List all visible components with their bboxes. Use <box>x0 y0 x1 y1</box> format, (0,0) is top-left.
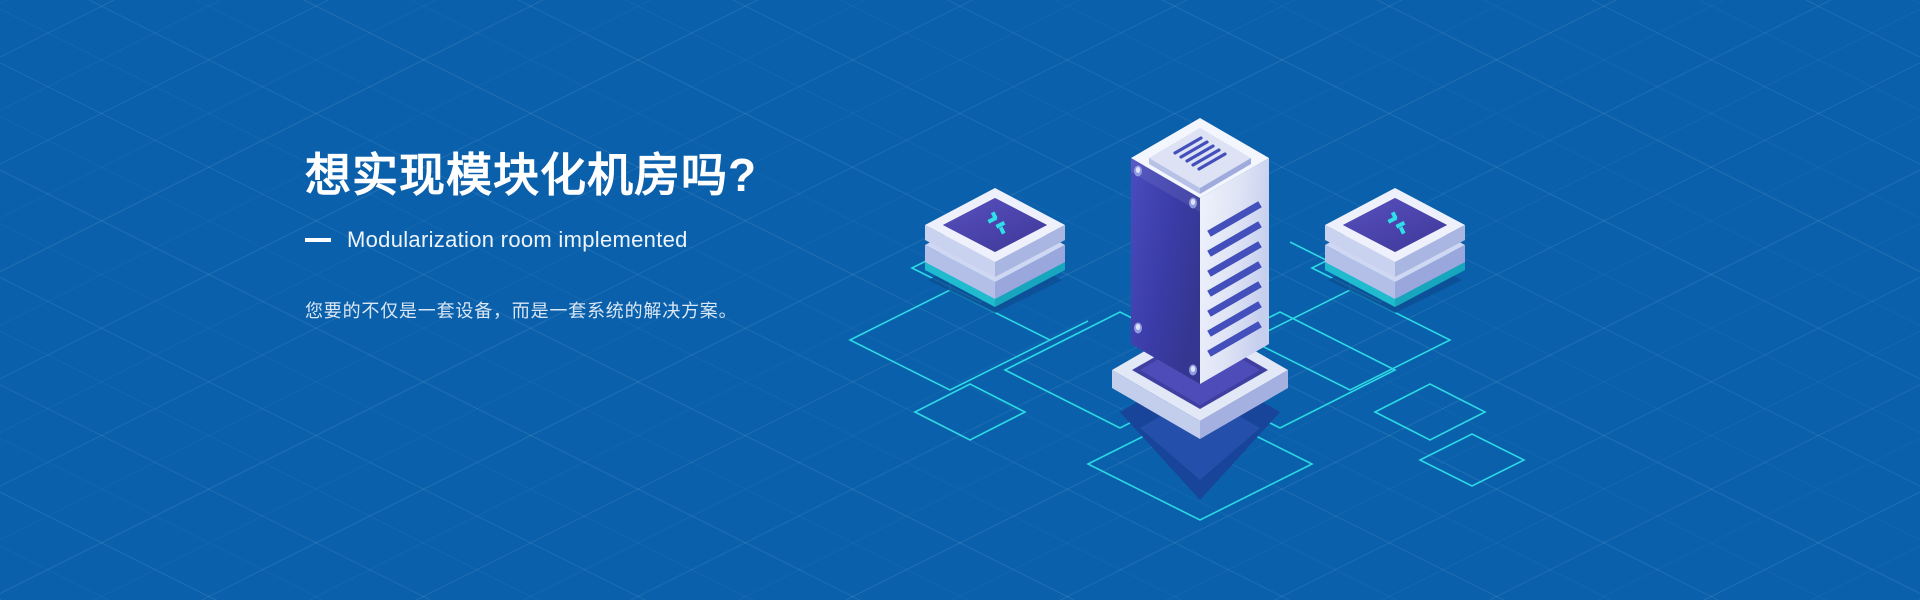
server-tower <box>1112 118 1288 500</box>
page-subtitle: Modularization room implemented <box>347 227 688 253</box>
chip-module-left <box>925 188 1065 307</box>
isometric-server-illustration <box>820 40 1580 560</box>
hero-banner: 想实现模块化机房吗? Modularization room implement… <box>0 0 1920 600</box>
chip-module-right <box>1325 188 1465 307</box>
divider-dash-icon <box>305 238 331 242</box>
